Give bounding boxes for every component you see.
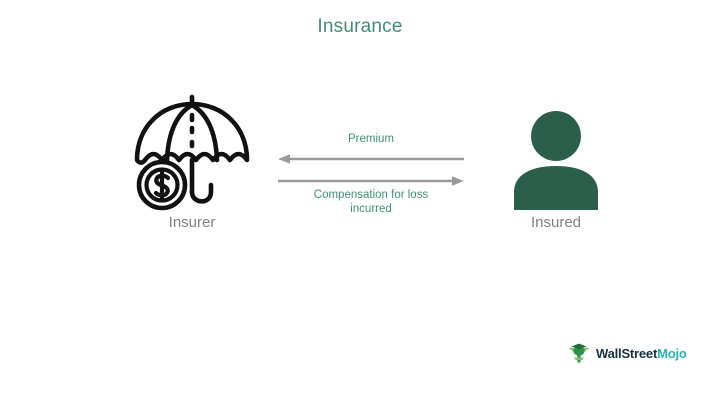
compensation-flow-label: Compensation for loss incurred bbox=[272, 188, 470, 216]
wallstreetmojo-logo-text: WallStreetMojo bbox=[596, 346, 687, 361]
person-silhouette-icon bbox=[510, 110, 602, 210]
logo-text-primary: WallStreet bbox=[596, 346, 657, 361]
insurer-party: Insurer bbox=[122, 86, 262, 251]
arrow-right-icon bbox=[278, 174, 464, 186]
insurer-label: Insurer bbox=[122, 214, 262, 231]
premium-flow-label: Premium bbox=[278, 132, 464, 146]
page-title: Insurance bbox=[0, 16, 720, 38]
insured-party: Insured bbox=[486, 110, 626, 252]
insured-label: Insured bbox=[486, 214, 626, 231]
arrow-left-icon bbox=[278, 152, 464, 164]
wallstreetmojo-logo: WallStreetMojo bbox=[567, 340, 687, 366]
flow-arrows-group: Premium Compensation for loss incurred bbox=[278, 132, 464, 224]
logo-text-accent: Mojo bbox=[657, 346, 687, 361]
wallstreetmojo-bull-icon bbox=[567, 341, 591, 365]
umbrella-with-dollar-coin-icon bbox=[129, 86, 255, 212]
insurance-diagram-slide: Insurance bbox=[0, 0, 720, 404]
